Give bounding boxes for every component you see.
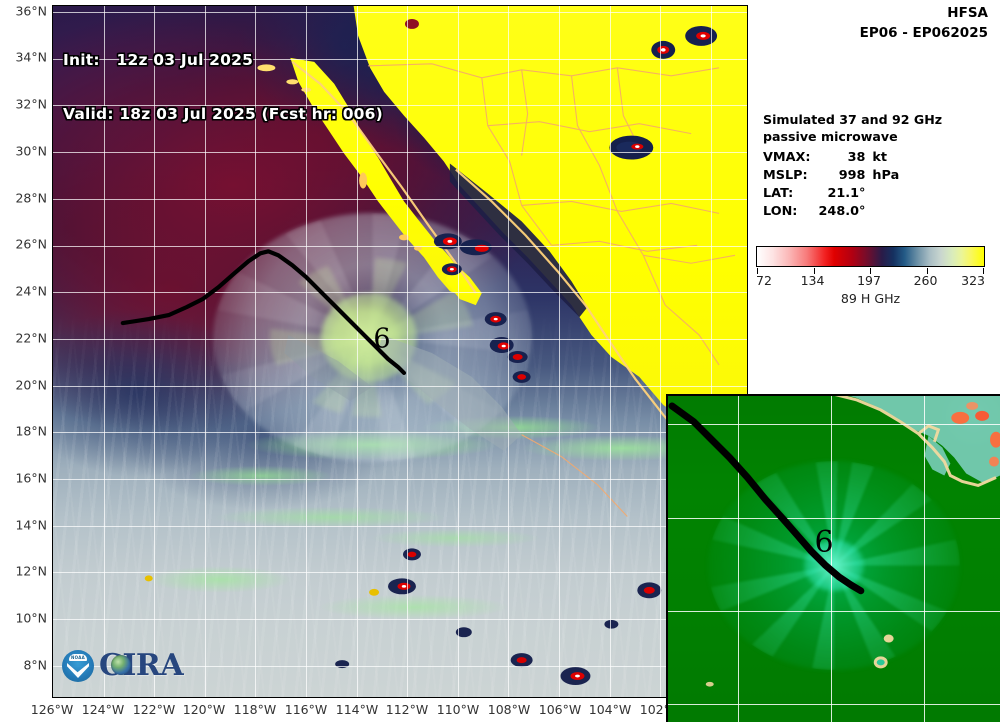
inset-forecast-hour-marker: 6 <box>814 528 833 558</box>
inset-zoom-panel[interactable]: 6 <box>666 394 1000 722</box>
lat-tick: 20°N <box>15 378 47 393</box>
colorbar-tick: 323 <box>961 273 985 288</box>
noaa-logo-label: NOAA <box>69 654 87 661</box>
stat-unit: hPa <box>868 167 899 185</box>
lat-tick: 14°N <box>15 518 47 533</box>
storm-intensity-stats: VMAX: 38 kt MSLP: 998 hPa LAT: 21.1° LON… <box>763 149 899 222</box>
colorbar-group: 72 134 197 260 323 89 H GHz <box>756 246 985 306</box>
init-time-text: Init: 12z 03 Jul 2025 <box>63 51 383 69</box>
lat-tick: 16°N <box>15 471 47 486</box>
stat-value: 998 <box>819 167 869 185</box>
colorbar-gradient <box>756 246 985 267</box>
lon-tick: 116°W <box>285 702 327 717</box>
valid-time-text: Valid: 18z 03 Jul 2025 (Fcst hr: 006) <box>63 105 383 123</box>
inset-storm-track-overlay <box>668 396 1000 722</box>
lon-tick: 124°W <box>82 702 124 717</box>
lon-tick: 112°W <box>386 702 428 717</box>
stat-unit: kt <box>868 149 899 167</box>
offshore-island <box>414 246 422 251</box>
cira-wordmark: CIRA <box>99 651 183 681</box>
colorbar-tick: 72 <box>756 273 772 288</box>
storm-stats-table: VMAX: 38 kt MSLP: 998 hPa LAT: 21.1° LON… <box>763 149 899 222</box>
lat-tick: 36°N <box>15 4 47 19</box>
lat-tick: 30°N <box>15 144 47 159</box>
stat-unit <box>868 185 899 203</box>
lat-tick: 24°N <box>15 284 47 299</box>
lat-tick: 32°N <box>15 97 47 112</box>
lon-tick: 114°W <box>336 702 378 717</box>
info-side-panel: HFSA EP06 - EP062025 Simulated 37 and 92… <box>752 0 1000 400</box>
coastal-cloud-patch <box>284 335 372 401</box>
stat-key: LON: <box>763 203 819 221</box>
guadalupe-island <box>359 173 367 189</box>
colorbar-tick: 197 <box>857 273 881 288</box>
stat-value: 21.1° <box>819 185 869 203</box>
stat-row-mslp: MSLP: 998 hPa <box>763 167 899 185</box>
stat-value: 38 <box>819 149 869 167</box>
stat-key: MSLP: <box>763 167 819 185</box>
lat-tick: 28°N <box>15 191 47 206</box>
lon-tick: 110°W <box>437 702 479 717</box>
stat-row-lon: LON: 248.0° <box>763 203 899 221</box>
stat-key: VMAX: <box>763 149 819 167</box>
model-name: HFSA <box>860 4 988 24</box>
microwave-brightness-field: 6 Init: 12z 03 Jul 2025 Valid: 18z 03 Ju… <box>53 6 747 697</box>
colorbar-tick: 260 <box>914 273 938 288</box>
lat-tick: 10°N <box>15 611 47 626</box>
stat-key: LAT: <box>763 185 819 203</box>
colorbar-tick-labels: 72 134 197 260 323 <box>756 273 985 290</box>
lon-tick: 118°W <box>234 702 276 717</box>
main-map-panel[interactable]: 6 Init: 12z 03 Jul 2025 Valid: 18z 03 Ju… <box>52 5 748 698</box>
storm-identifier: EP06 - EP062025 <box>860 24 988 44</box>
globe-icon <box>111 655 131 675</box>
lon-tick: 104°W <box>589 702 631 717</box>
lat-tick: 18°N <box>15 424 47 439</box>
stat-row-vmax: VMAX: 38 kt <box>763 149 899 167</box>
stat-value: 248.0° <box>819 203 869 221</box>
model-title-block: HFSA EP06 - EP062025 <box>860 4 988 43</box>
lat-tick: 26°N <box>15 237 47 252</box>
lon-tick: 126°W <box>31 702 73 717</box>
lon-tick: 122°W <box>133 702 175 717</box>
stat-row-lat: LAT: 21.1° <box>763 185 899 203</box>
visualization-root: 36°N 34°N 32°N 30°N 28°N 26°N 24°N 22°N … <box>0 0 1000 722</box>
product-description-line-1: Simulated 37 and 92 GHz <box>763 112 993 129</box>
inset-microwave-field: 6 <box>668 396 1000 722</box>
cira-noaa-logo: NOAA CIRA <box>62 649 183 683</box>
forecast-hour-marker: 6 <box>373 326 390 353</box>
lat-tick: 12°N <box>15 564 47 579</box>
lon-tick: 120°W <box>183 702 225 717</box>
lon-tick: 106°W <box>539 702 581 717</box>
lat-tick: 22°N <box>15 331 47 346</box>
map-timestamp-overlay: Init: 12z 03 Jul 2025 Valid: 18z 03 Jul … <box>63 14 383 160</box>
stat-unit <box>868 203 899 221</box>
product-description-line-2: passive microwave <box>763 129 993 146</box>
inset-storm-track-line <box>668 396 1000 722</box>
lat-tick: 34°N <box>15 50 47 65</box>
colorbar-axis-label: 89 H GHz <box>756 291 985 306</box>
lat-tick: 8°N <box>23 658 47 673</box>
latitude-axis: 36°N 34°N 32°N 30°N 28°N 26°N 24°N 22°N … <box>0 0 50 722</box>
offshore-island <box>399 234 409 240</box>
colorbar-tick: 134 <box>801 273 825 288</box>
product-description: Simulated 37 and 92 GHz passive microwav… <box>763 112 993 145</box>
noaa-logo-icon: NOAA <box>62 650 94 682</box>
lon-tick: 108°W <box>488 702 530 717</box>
